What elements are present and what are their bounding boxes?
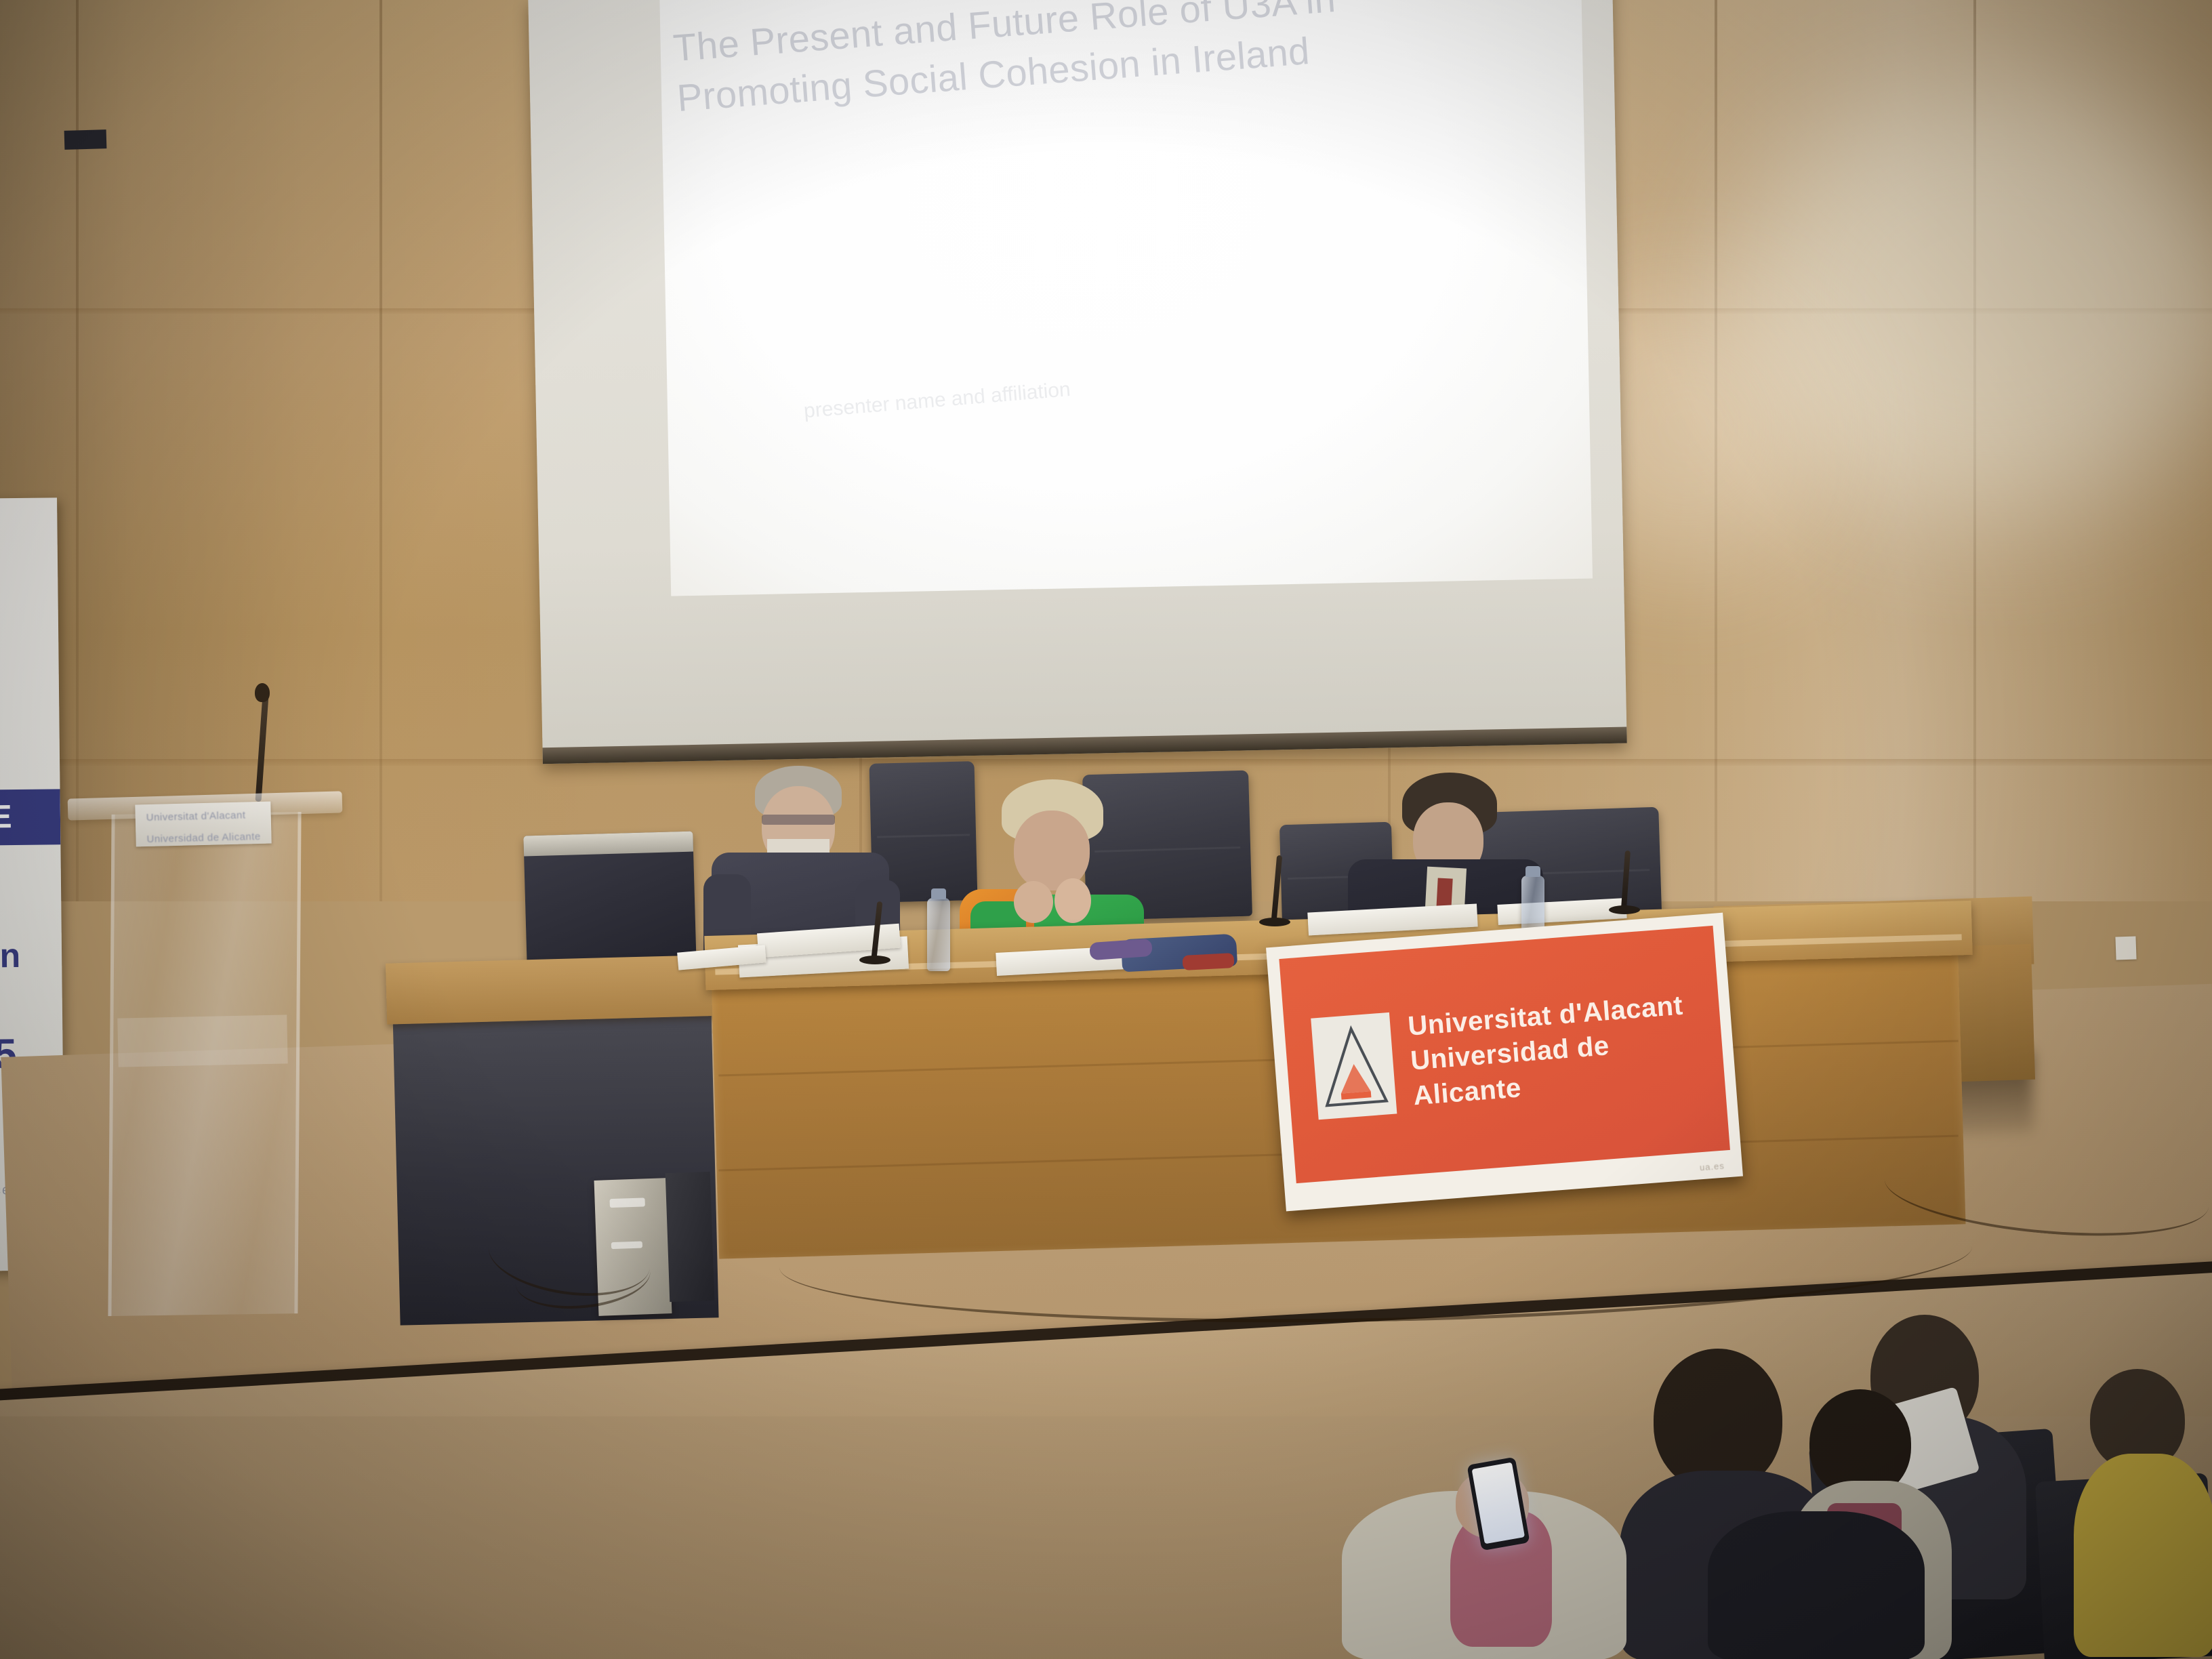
university-banner-panel: Universitat d'Alacant Universidad de Ali… [1279,926,1730,1183]
red-folder [1182,953,1234,970]
auditorium-photo: The Present and Future Role of U3A in Pr… [0,0,2212,1659]
projection-screen: The Present and Future Role of U3A in Pr… [528,0,1626,764]
banner-highlight-text: CE [0,789,60,845]
wall-socket[interactable] [2115,936,2136,960]
computer-monitor [523,832,696,968]
glasses-icon [762,815,835,825]
head [1654,1349,1782,1491]
slide-subtitle: presenter name and affiliation [802,335,1548,426]
wall-seam [1973,0,1976,901]
monitor-stand [64,129,107,150]
microphone-base [1609,905,1640,914]
projected-slide: The Present and Future Role of U3A in Pr… [659,0,1593,596]
wall-seam [1715,0,1717,901]
plaque-line-2: Universidad de Alicante [136,823,272,846]
monitor-bezel [523,832,693,857]
banner-line-2: ion [0,938,63,972]
pc-secondary-unit [665,1172,715,1302]
university-banner: Universitat d'Alacant Universidad de Ali… [1266,913,1743,1212]
torso [2074,1454,2212,1657]
hand-left [1014,881,1053,923]
banner-top-fragment: TA [0,701,59,722]
ua-triangle-logo-icon [1311,1012,1397,1120]
microphone-base [859,956,890,964]
bottle-cap [931,888,946,899]
banner-highlight-strip: CE [0,789,60,845]
plaque-line-1: Universitat d'Alacant [135,802,271,826]
audience-member [1708,1511,1925,1659]
microphone-base [1259,918,1290,926]
hand-right [1054,878,1091,923]
lectern: Universitat d'Alacant Universidad de Ali… [108,800,312,1335]
wall-band [0,759,2212,766]
head [1014,811,1090,890]
pc-drive-slot [610,1197,645,1208]
banner-line-1: ip [0,890,63,925]
bottle-cap [1525,866,1540,877]
wall-seam [380,0,382,901]
water-bottle [927,898,950,971]
ua-triangle-svg [1318,1023,1389,1110]
microphone-head-icon [255,683,270,702]
lectern-plaque: Universitat d'Alacant Universidad de Ali… [135,802,271,847]
banner-small-print: ua.es [1699,1161,1725,1173]
smartphone-screen[interactable] [1472,1462,1525,1544]
audience-member [2074,1369,2212,1659]
slide-title: The Present and Future Role of U3A in Pr… [672,0,1477,123]
university-banner-text: Universitat d'Alacant Universidad de Ali… [1407,986,1725,1113]
torso [1708,1511,1925,1659]
lectern-shelf [117,1015,287,1067]
